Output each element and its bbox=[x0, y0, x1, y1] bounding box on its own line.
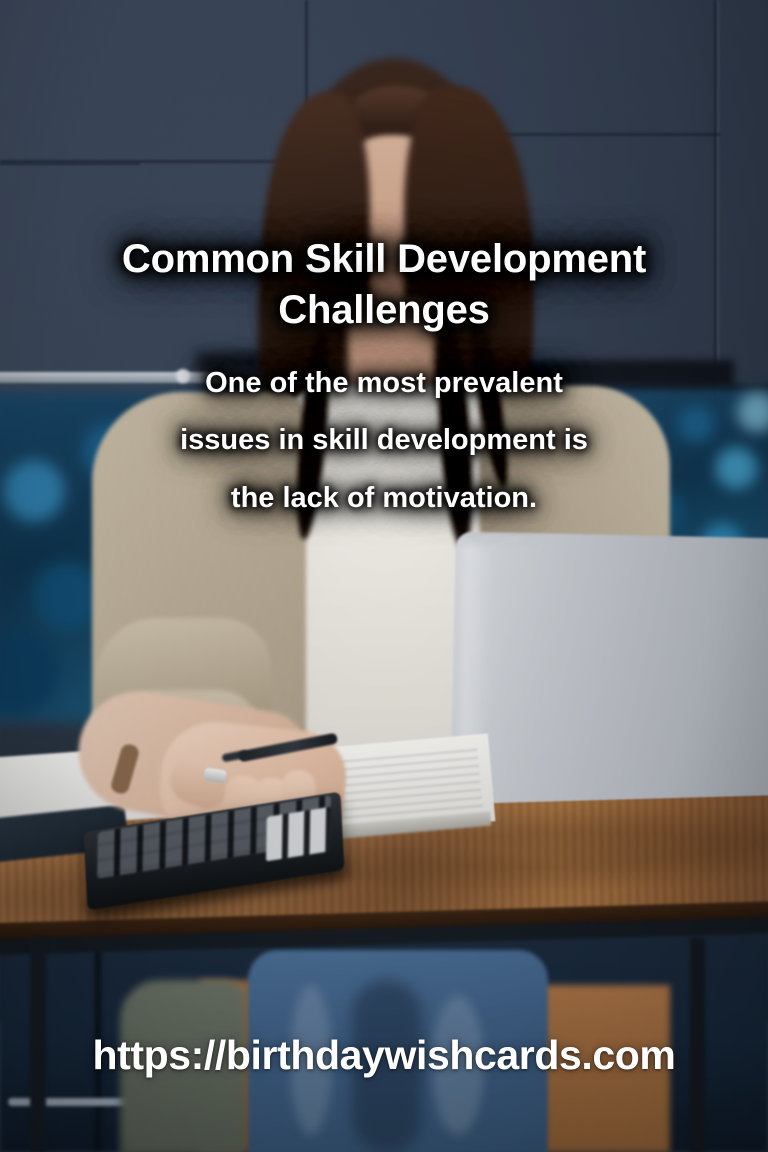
page-title: Common Skill Development Challenges bbox=[40, 234, 728, 336]
subtitle-block: One of the most prevalent issues in skil… bbox=[60, 355, 708, 527]
subtitle-line-2: issues in skill development is bbox=[60, 412, 708, 469]
text-overlay: Common Skill Development Challenges One … bbox=[0, 0, 768, 1152]
subtitle-line-1: One of the most prevalent bbox=[60, 355, 708, 412]
pin-image: Common Skill Development Challenges One … bbox=[0, 0, 768, 1152]
site-url[interactable]: https://birthdaywishcards.com bbox=[0, 1032, 768, 1079]
subtitle-line-3: the lack of motivation. bbox=[60, 470, 708, 527]
